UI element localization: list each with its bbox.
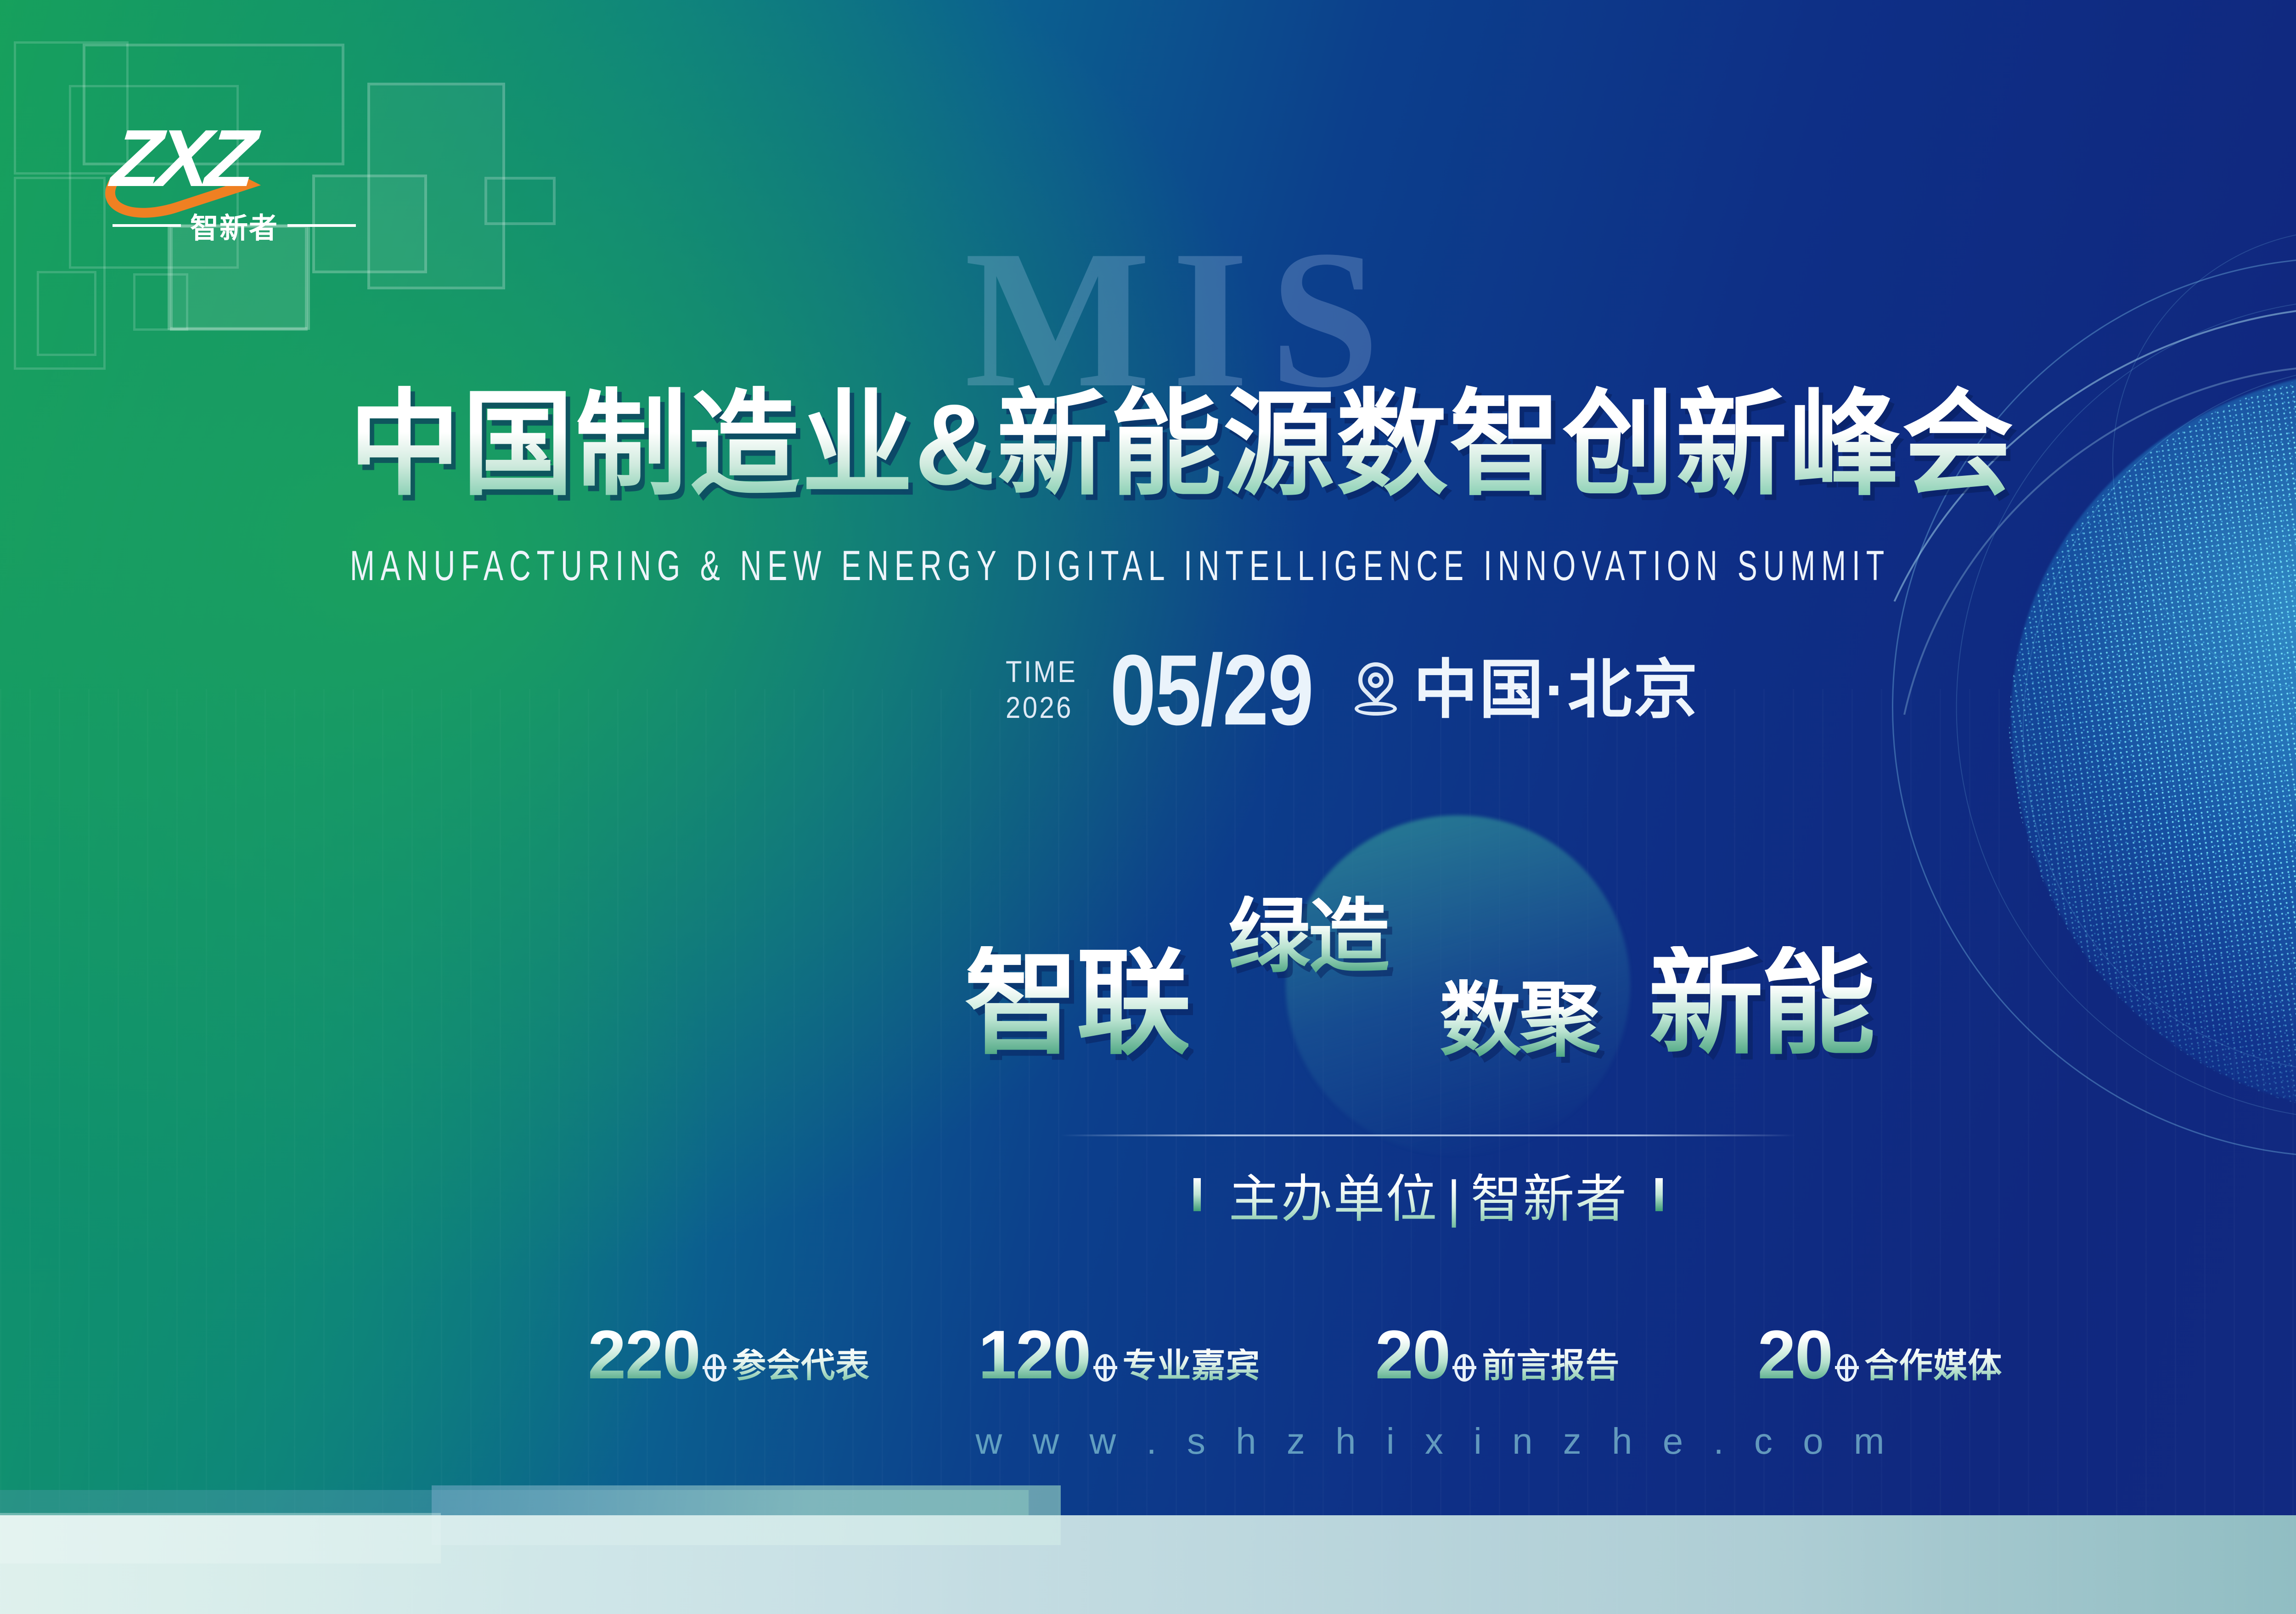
brand-logo[interactable]: ZXZ 智新者 bbox=[113, 115, 356, 246]
stat-item: 220 参会代表 bbox=[588, 1323, 870, 1386]
stat-label: 专业嘉宾 bbox=[1123, 1349, 1261, 1383]
plus-icon bbox=[1454, 1354, 1474, 1382]
stat-value: 20 bbox=[1757, 1323, 1832, 1386]
host-name: 智新者 bbox=[1471, 1170, 1628, 1228]
stat-value: 120 bbox=[978, 1323, 1090, 1386]
stat-item: 120 专业嘉宾 bbox=[978, 1323, 1260, 1386]
logo-rule-left bbox=[113, 224, 181, 227]
bottom-band bbox=[0, 1515, 2296, 1614]
decor-square bbox=[484, 177, 556, 225]
event-year-small: 2026 bbox=[1006, 690, 1077, 726]
location-pin-icon bbox=[1354, 662, 1398, 717]
event-meta: TIME 2026 05/29 中国·北京 bbox=[1006, 647, 1699, 733]
slogan-group: 智联 绿造 数聚 新能 bbox=[964, 891, 1956, 1075]
host-line: 主办单位|智新者 bbox=[1061, 1157, 1795, 1232]
host-label: 主办单位 bbox=[1228, 1170, 1438, 1228]
slogan-part-2: 绿造 bbox=[1228, 896, 1388, 977]
plus-icon bbox=[1095, 1354, 1115, 1382]
host-divider-rule bbox=[1061, 1134, 1795, 1136]
decor-square bbox=[37, 271, 96, 356]
stat-value: 220 bbox=[588, 1323, 700, 1386]
plus-icon bbox=[1837, 1354, 1857, 1382]
time-label: TIME bbox=[1006, 654, 1077, 690]
conference-banner: ZXZ 智新者 MIS 2026 MIS 中国制造业&新能源数智创新峰会 MAN… bbox=[0, 0, 2296, 1614]
stats-row: 220 参会代表 120 专业嘉宾 20 前言报告 20 合作媒体 bbox=[588, 1323, 2296, 1386]
logo-wordmark: ZXZ bbox=[108, 115, 360, 202]
plus-icon bbox=[704, 1354, 725, 1382]
stat-label: 前言报告 bbox=[1482, 1349, 1620, 1383]
stat-item: 20 前言报告 bbox=[1375, 1323, 1620, 1386]
slogan-part-3: 数聚 bbox=[1440, 979, 1599, 1061]
host-divider: | bbox=[1438, 1170, 1470, 1228]
stat-item: 20 合作媒体 bbox=[1757, 1323, 2002, 1386]
event-location: 中国·北京 bbox=[1413, 658, 1699, 722]
logo-mark: ZXZ bbox=[113, 115, 356, 202]
slogan-part-1: 智联 bbox=[964, 946, 1188, 1061]
stat-label: 参会代表 bbox=[732, 1349, 870, 1383]
tick-right-icon bbox=[1655, 1178, 1663, 1211]
time-label-stack: TIME 2026 bbox=[1006, 654, 1087, 726]
slogan-part-4: 新能 bbox=[1649, 946, 1873, 1061]
event-date: 05/29 bbox=[1110, 640, 1313, 740]
tick-left-icon bbox=[1193, 1178, 1201, 1211]
stat-label: 合作媒体 bbox=[1864, 1349, 2002, 1383]
page-title: 中国制造业&新能源数智创新峰会 bbox=[349, 380, 2015, 509]
logo-sub-label: 智新者 bbox=[190, 205, 278, 246]
stat-value: 20 bbox=[1375, 1323, 1450, 1386]
page-subtitle: MANUFACTURING & NEW ENERGY DIGITAL INTEL… bbox=[350, 541, 1890, 590]
host-text: 主办单位|智新者 bbox=[1228, 1157, 1627, 1232]
logo-rule-right bbox=[287, 224, 356, 227]
website-url[interactable]: w w w . s h z h i x i n z h e . c o m bbox=[0, 1420, 2296, 1462]
